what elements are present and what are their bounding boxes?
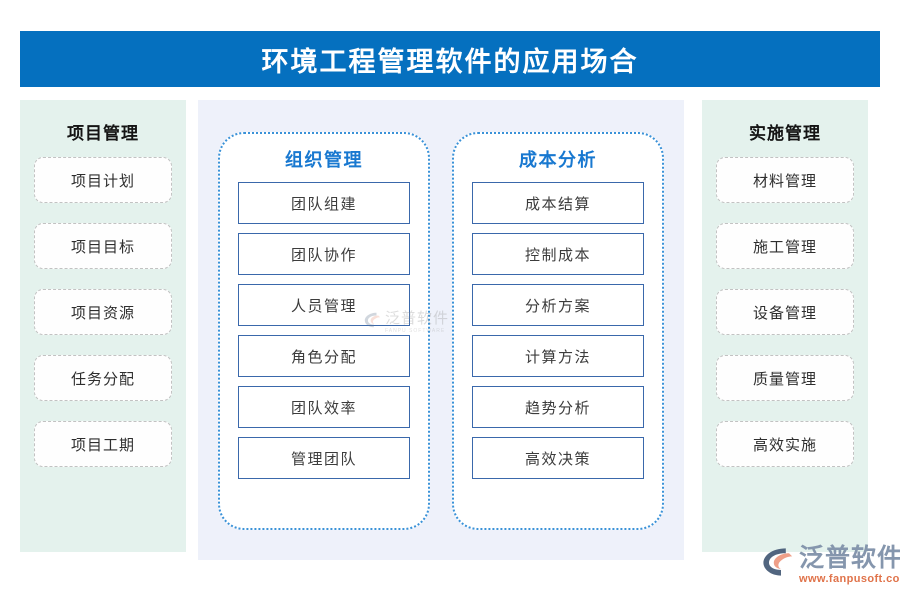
list-item-label: 项目计划 (71, 170, 135, 191)
list-item-label: 项目工期 (71, 434, 135, 455)
list-item-label: 趋势分析 (525, 397, 591, 418)
list-item[interactable]: 任务分配 (34, 355, 172, 401)
list-item[interactable]: 材料管理 (716, 157, 854, 203)
list-item[interactable]: 质量管理 (716, 355, 854, 401)
list-item[interactable]: 团队协作 (238, 233, 410, 275)
panel-title-left: 项目管理 (67, 119, 139, 144)
list-item-label: 团队组建 (291, 193, 357, 214)
infographic-canvas: 环境工程管理软件的应用场合 项目管理 项目计划 项目目标 项目资源 任务分配 项… (0, 0, 900, 600)
list-item-label: 成本结算 (525, 193, 591, 214)
list-item-label: 设备管理 (753, 302, 817, 323)
list-item-label: 施工管理 (753, 236, 817, 257)
card-organization-management: 组织管理 团队组建 团队协作 人员管理 角色分配 团队效率 管理团队 (218, 132, 430, 530)
list-item-label: 团队协作 (291, 244, 357, 265)
list-item[interactable]: 设备管理 (716, 289, 854, 335)
list-item[interactable]: 趋势分析 (472, 386, 644, 428)
list-item[interactable]: 管理团队 (238, 437, 410, 479)
panel-center: 组织管理 团队组建 团队协作 人员管理 角色分配 团队效率 管理团队 成本分析 (198, 100, 684, 560)
brand-name: 泛普软件 (799, 546, 900, 572)
page-title-banner: 环境工程管理软件的应用场合 (20, 31, 880, 87)
list-item-label: 高效决策 (525, 448, 591, 469)
list-item-label: 任务分配 (71, 368, 135, 389)
list-item[interactable]: 团队组建 (238, 182, 410, 224)
page-title: 环境工程管理软件的应用场合 (262, 40, 639, 79)
list-item-label: 高效实施 (753, 434, 817, 455)
list-item-label: 角色分配 (291, 346, 357, 367)
list-item[interactable]: 高效实施 (716, 421, 854, 467)
list-item[interactable]: 项目目标 (34, 223, 172, 269)
panel-project-management: 项目管理 项目计划 项目目标 项目资源 任务分配 项目工期 (20, 100, 186, 552)
list-item[interactable]: 项目资源 (34, 289, 172, 335)
list-item[interactable]: 高效决策 (472, 437, 644, 479)
list-item[interactable]: 施工管理 (716, 223, 854, 269)
card-cost-analysis: 成本分析 成本结算 控制成本 分析方案 计算方法 趋势分析 高效决策 (452, 132, 664, 530)
list-item[interactable]: 成本结算 (472, 182, 644, 224)
brand-url: www.fanpusoft.com (799, 573, 900, 585)
list-item[interactable]: 计算方法 (472, 335, 644, 377)
brand-logo-text: 泛普软件 www.fanpusoft.com (799, 546, 900, 585)
list-item-label: 项目目标 (71, 236, 135, 257)
card-title: 成本分析 (519, 146, 597, 172)
list-item-label: 计算方法 (525, 346, 591, 367)
panel-implementation-management: 实施管理 材料管理 施工管理 设备管理 质量管理 高效实施 (702, 100, 868, 552)
brand-logo: 泛普软件 www.fanpusoft.com (760, 546, 900, 585)
list-item-label: 质量管理 (753, 368, 817, 389)
list-item[interactable]: 控制成本 (472, 233, 644, 275)
fanpu-logo-icon (760, 546, 794, 583)
card-title: 组织管理 (285, 146, 363, 172)
list-item[interactable]: 团队效率 (238, 386, 410, 428)
list-item[interactable]: 项目工期 (34, 421, 172, 467)
list-item-label: 项目资源 (71, 302, 135, 323)
list-item-label: 控制成本 (525, 244, 591, 265)
list-item-label: 管理团队 (291, 448, 357, 469)
list-item-label: 分析方案 (525, 295, 591, 316)
panel-title-right: 实施管理 (749, 119, 821, 144)
list-item[interactable]: 项目计划 (34, 157, 172, 203)
list-item-label: 材料管理 (753, 170, 817, 191)
list-item[interactable]: 分析方案 (472, 284, 644, 326)
list-item-label: 人员管理 (291, 295, 357, 316)
list-item[interactable]: 角色分配 (238, 335, 410, 377)
list-item[interactable]: 人员管理 (238, 284, 410, 326)
list-item-label: 团队效率 (291, 397, 357, 418)
